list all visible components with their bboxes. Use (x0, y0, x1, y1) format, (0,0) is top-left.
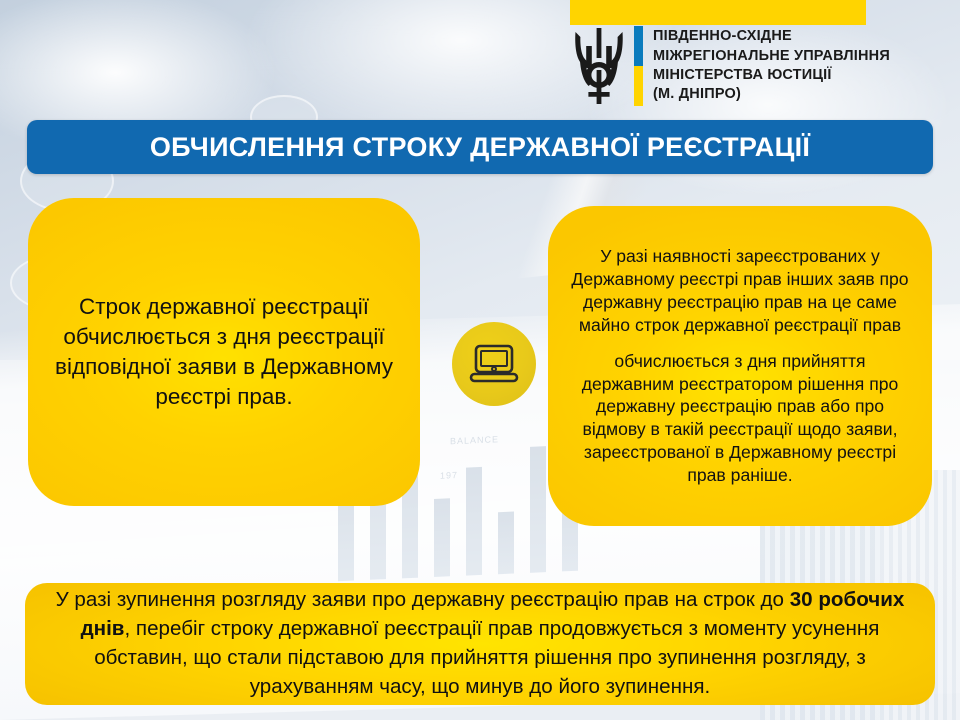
organization-logo: ПІВДЕННО-СХІДНЕ МІЖРЕГІОНАЛЬНЕ УПРАВЛІНН… (568, 26, 890, 106)
page-title: ОБЧИСЛЕННЯ СТРОКУ ДЕРЖАВНОЇ РЕЄСТРАЦІЇ (150, 132, 810, 163)
bottom-banner: У разі зупинення розгляду заяви про держ… (25, 583, 935, 705)
logo-line-3: МІНІСТЕРСТВА ЮСТИЦІЇ (653, 66, 890, 85)
logo-line-4: (М. ДНІПРО) (653, 85, 890, 104)
laptop-icon-badge (452, 322, 536, 406)
logo-text-block: ПІВДЕННО-СХІДНЕ МІЖРЕГІОНАЛЬНЕ УПРАВЛІНН… (653, 26, 890, 106)
card-right: У разі наявності зареєстрованих у Держав… (548, 206, 932, 526)
background-chart-tick: 197 (440, 470, 458, 481)
card-right-paragraph-2: обчислюється з дня прийняття державним р… (570, 350, 910, 487)
background-chart-bar (434, 498, 450, 577)
bottom-banner-text-part-1: У разі зупинення розгляду заяви про держ… (56, 588, 790, 611)
laptop-icon (469, 343, 519, 385)
logo-flag-divider (634, 26, 643, 106)
card-left: Строк державної реєстрації обчислюється … (28, 198, 420, 506)
bottom-banner-text-part-2: , перебіг строку державної реєстрації пр… (94, 617, 879, 698)
logo-line-1: ПІВДЕННО-СХІДНЕ (653, 27, 890, 46)
slide-canvas: 200 BALANCE 197 ПІВДЕННО-СХІ (0, 0, 960, 720)
bottom-banner-text: У разі зупинення розгляду заяви про держ… (47, 586, 913, 701)
background-chart-bar (530, 446, 546, 573)
background-chart-bar (466, 467, 482, 576)
logo-top-yellow-bar (570, 0, 866, 25)
card-right-paragraph-1: У разі наявності зареєстрованих у Держав… (570, 245, 910, 336)
logo-line-2: МІЖРЕГІОНАЛЬНЕ УПРАВЛІННЯ (653, 47, 890, 66)
background-chart-tick: BALANCE (450, 434, 499, 446)
card-left-text: Строк державної реєстрації обчислюється … (52, 292, 396, 413)
page-title-banner: ОБЧИСЛЕННЯ СТРОКУ ДЕРЖАВНОЇ РЕЄСТРАЦІЇ (27, 120, 933, 174)
ukraine-trident-icon (568, 26, 630, 106)
background-chart-bar (498, 512, 514, 575)
